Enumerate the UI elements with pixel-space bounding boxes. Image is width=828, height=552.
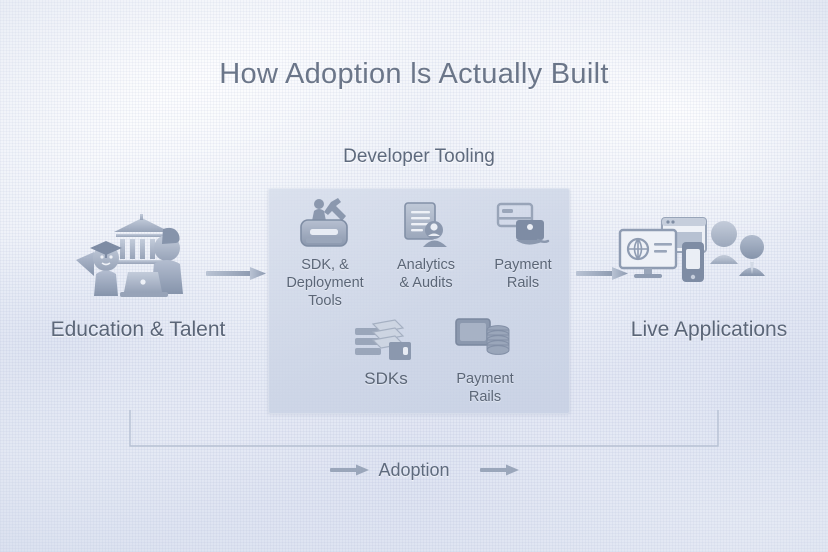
tile-label: Analytics & Audits <box>397 257 455 291</box>
tile-payment-rails-bottom[interactable]: Payment Rails <box>436 316 534 406</box>
mobile-phone-icon <box>682 242 704 282</box>
arrow-right-icon <box>206 267 266 280</box>
tile-label: Payment Rails <box>456 371 513 405</box>
diagram-canvas: How Adoption ls Actually Built <box>0 0 828 552</box>
graduate-cap-person-icon <box>76 241 122 296</box>
monitor-globe-icon <box>620 230 676 278</box>
live-applications-label: Live Applications <box>590 318 828 342</box>
document-person-icon <box>397 200 455 252</box>
server-stack-icon <box>353 318 419 366</box>
page-title: How Adoption ls Actually Built <box>0 58 828 91</box>
education-talent-icon-group <box>66 214 214 306</box>
tile-analytics-audits[interactable]: Analytics & Audits <box>378 200 474 292</box>
tile-label: SDKs <box>364 369 407 388</box>
toolbox-wrench-icon <box>293 196 357 252</box>
developer-tooling-label: Developer Tooling <box>268 146 570 168</box>
user-group-icon <box>710 221 765 276</box>
screen-coins-icon <box>454 316 516 366</box>
tile-label: SDK, & Deployment Tools <box>286 257 363 309</box>
adoption-span-bracket <box>128 410 720 454</box>
education-talent-label: Education & Talent <box>20 318 256 342</box>
credit-card-terminal-icon <box>494 200 552 252</box>
tile-label: Payment Rails <box>494 257 551 291</box>
adoption-label: Adoption <box>344 460 484 481</box>
tile-sdks[interactable]: SDKs <box>340 318 432 389</box>
tile-sdk-deployment-tools[interactable]: SDK, & Deployment Tools <box>276 196 374 310</box>
adoption-arrow-right <box>480 463 520 479</box>
arrow-education-to-tooling <box>206 264 268 284</box>
arrow-right-icon <box>480 465 519 476</box>
tile-payment-rails-top[interactable]: Payment Rails <box>476 200 570 292</box>
live-applications-icon-group <box>618 216 786 302</box>
